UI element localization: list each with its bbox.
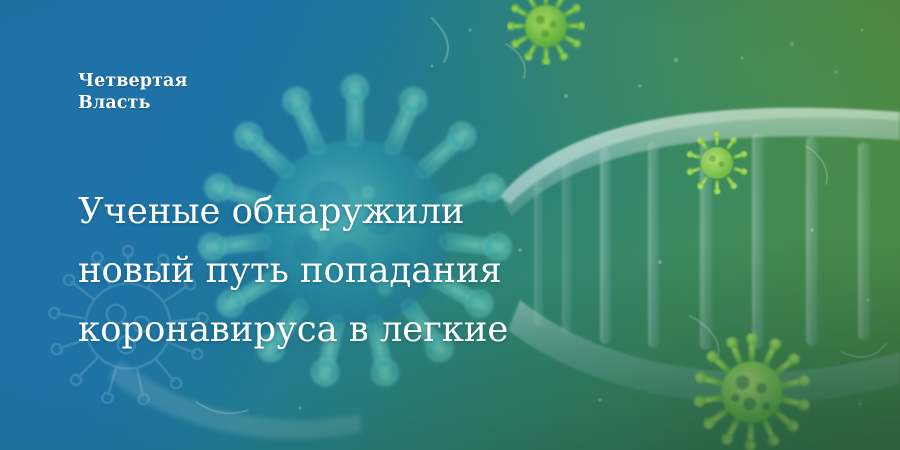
site-logo[interactable]: Четвертая Власть [78, 70, 188, 114]
site-logo-line-1: Четвертая [78, 70, 188, 92]
headline-line-3: коронавируса в легкие [78, 300, 638, 359]
article-banner: Четвертая Власть Ученые обнаружили новый… [0, 0, 900, 450]
article-headline: Ученые обнаружили новый путь попадания к… [78, 182, 638, 359]
headline-line-1: Ученые обнаружили [78, 182, 638, 241]
headline-line-2: новый путь попадания [78, 241, 638, 300]
banner-content: Четвертая Власть Ученые обнаружили новый… [0, 0, 900, 450]
site-logo-line-2: Власть [78, 92, 188, 114]
